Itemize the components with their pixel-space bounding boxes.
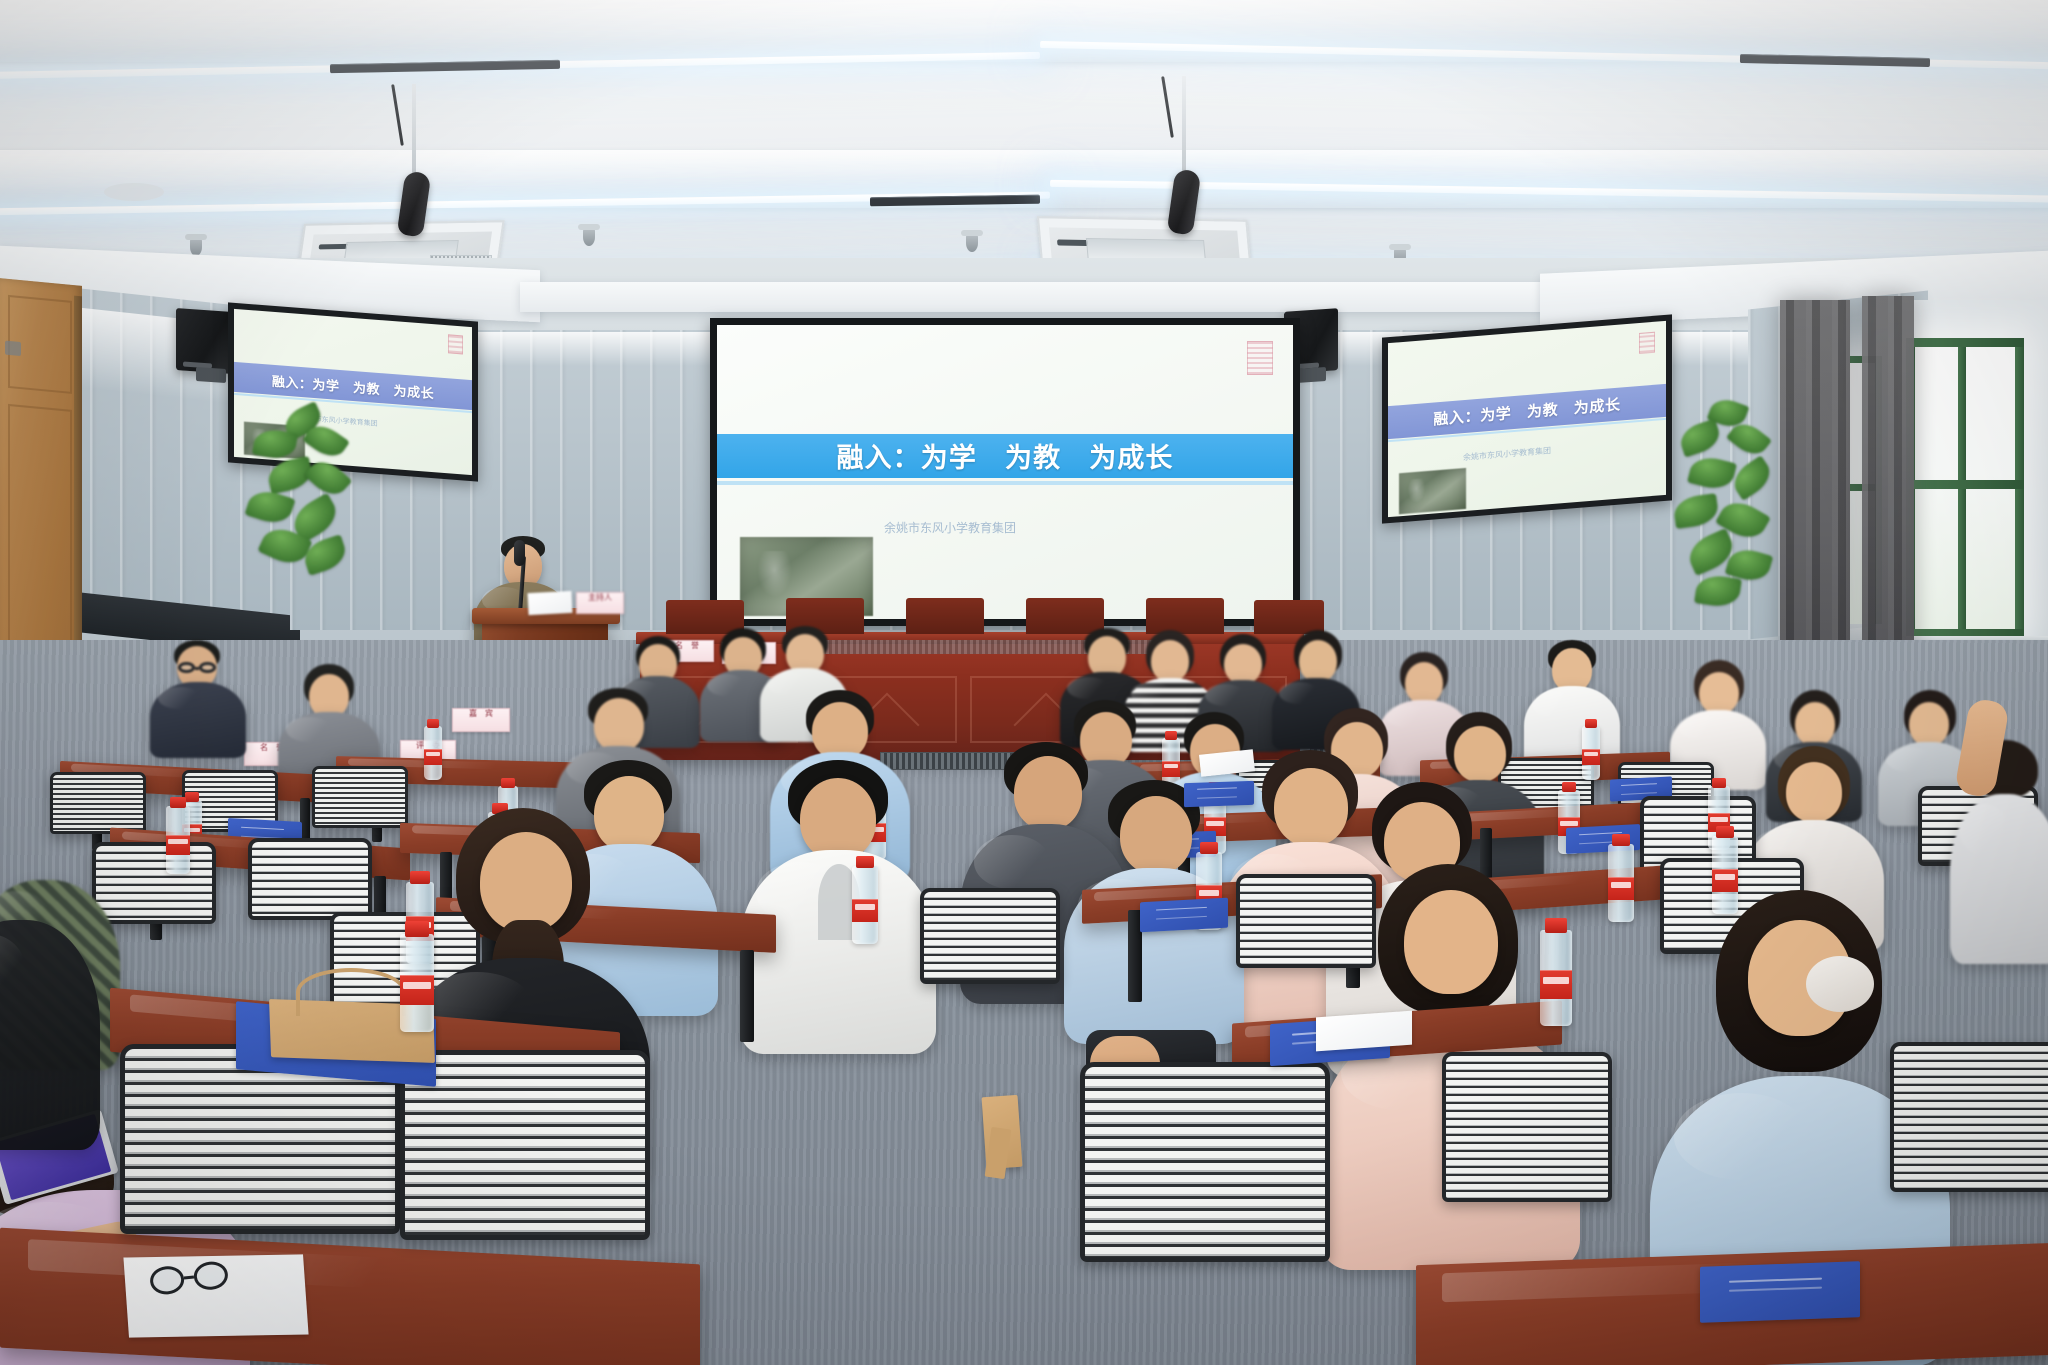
chair[interactable]	[248, 838, 372, 920]
podium-placard: 主持人	[576, 592, 624, 614]
slide-photo-right	[1399, 467, 1466, 514]
conference-folder[interactable]	[1140, 898, 1228, 933]
chair[interactable]	[50, 772, 146, 834]
podium-microphone-head-icon	[514, 540, 525, 566]
handout[interactable]	[1316, 1011, 1412, 1052]
glasses-icon	[178, 662, 216, 673]
water-bottle[interactable]	[1540, 930, 1572, 1026]
attendee	[740, 760, 936, 1050]
potted-plant-left	[248, 408, 358, 588]
water-bottle[interactable]	[400, 934, 434, 1032]
fire-sprinkler-icon	[583, 228, 595, 246]
center-projection-screen: 融入：为学 为教 为成长 余姚市东风小学教育集团	[710, 318, 1300, 626]
name-placard: 嘉 宾	[452, 708, 510, 732]
ceiling	[0, 0, 2048, 300]
hanging-microphone-icon	[412, 84, 416, 180]
slide-seal-icon	[448, 334, 463, 354]
water-bottle[interactable]	[1582, 726, 1600, 780]
window-curtain-right[interactable]	[1862, 296, 1914, 676]
water-bottle[interactable]	[1608, 844, 1634, 922]
slide-headline-center: 融入：为学 为教 为成长	[717, 434, 1293, 478]
chair[interactable]	[312, 766, 408, 828]
chair[interactable]	[1442, 1052, 1612, 1202]
slide-subtitle-center: 余姚市东风小学教育集团	[884, 519, 1016, 536]
attendee	[0, 920, 100, 1160]
hanging-microphone-icon	[1182, 76, 1186, 178]
slide-seal-icon	[1639, 332, 1655, 354]
wall-speaker-left	[176, 308, 232, 374]
bag-handle	[296, 968, 406, 1016]
slide-subtitle-right: 余姚市东风小学教育集团	[1463, 445, 1551, 463]
attendee	[150, 640, 246, 756]
chair[interactable]	[920, 888, 1060, 984]
chair[interactable]	[400, 1050, 650, 1240]
chair[interactable]	[1890, 1042, 2048, 1192]
lecture-hall-photo: 融入：为学 为教 为成长 余姚市东风小学教育集团 融入：为学 为教 为成长 余姚…	[0, 0, 2048, 1365]
water-bottle[interactable]	[166, 806, 190, 874]
slide-seal-icon	[1247, 341, 1273, 375]
chair[interactable]	[1080, 1062, 1330, 1262]
water-bottle[interactable]	[424, 726, 442, 780]
conference-folder[interactable]	[1184, 781, 1254, 807]
potted-plant-right	[1672, 400, 1782, 610]
wooden-door[interactable]	[0, 278, 82, 676]
fire-sprinkler-icon	[966, 234, 978, 252]
conference-folder[interactable]	[1700, 1261, 1860, 1323]
window-pane	[1906, 338, 2024, 638]
podium-paper	[527, 591, 572, 615]
water-bottle[interactable]	[852, 866, 878, 944]
fire-sprinkler-icon	[190, 238, 202, 256]
hair-tie	[1806, 956, 1874, 1012]
right-projection-screen: 融入：为学 为教 为成长 余姚市东风小学教育集团	[1382, 314, 1672, 523]
